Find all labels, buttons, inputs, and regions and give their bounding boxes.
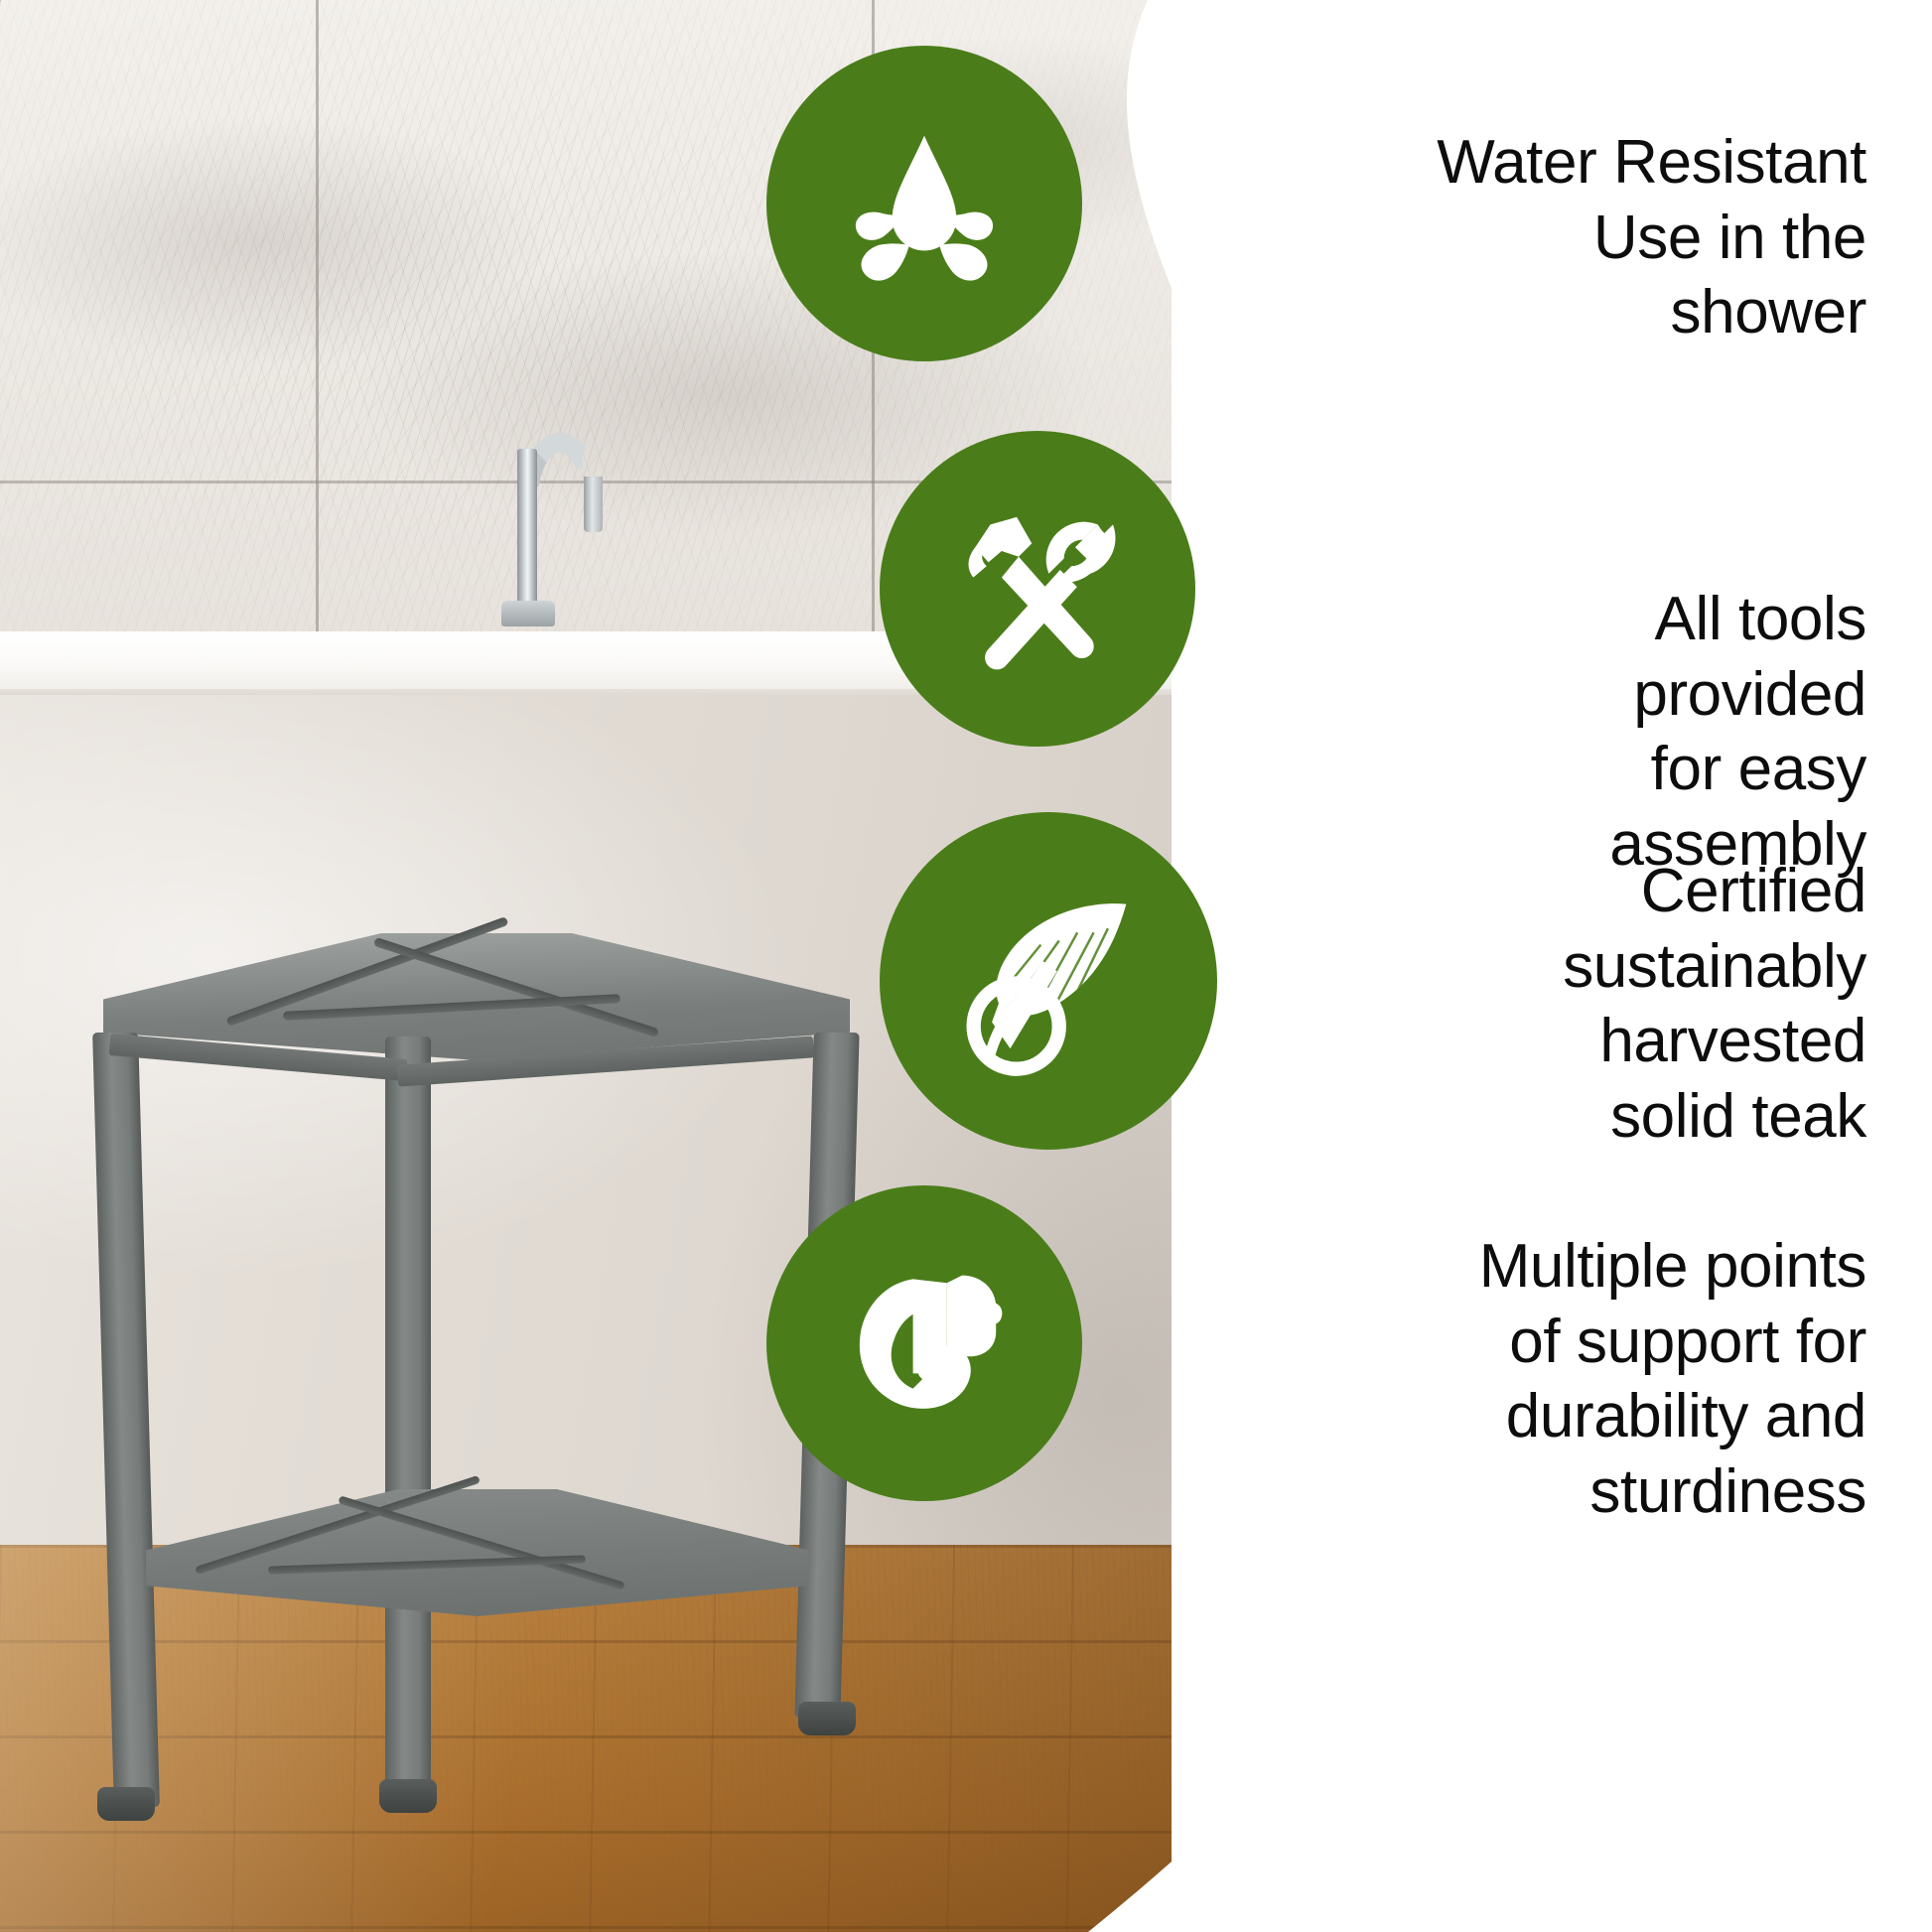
feature-text-tools-provided: All tools provided for easy assembly (1142, 582, 1866, 883)
flexed-bicep-strength-icon (830, 1249, 1019, 1438)
feature-circle-water-resistant[interactable] (766, 46, 1082, 361)
water-drop-splash-icon (830, 109, 1019, 298)
feature-list: Water Resistant Use in the shower (0, 0, 1932, 1932)
infographic-canvas: Water Resistant Use in the shower (0, 0, 1932, 1932)
feature-text-certified-teak: Certified sustainably harvested solid te… (1142, 854, 1866, 1155)
feature-circle-multiple-support[interactable] (766, 1185, 1082, 1501)
feature-text-water-resistant: Water Resistant Use in the shower (1082, 125, 1866, 350)
feature-text-multiple-support: Multiple points of support for durabilit… (1082, 1229, 1866, 1530)
hammer-wrench-tools-icon (943, 494, 1132, 683)
leaf-checkmark-certified-icon (947, 880, 1151, 1083)
